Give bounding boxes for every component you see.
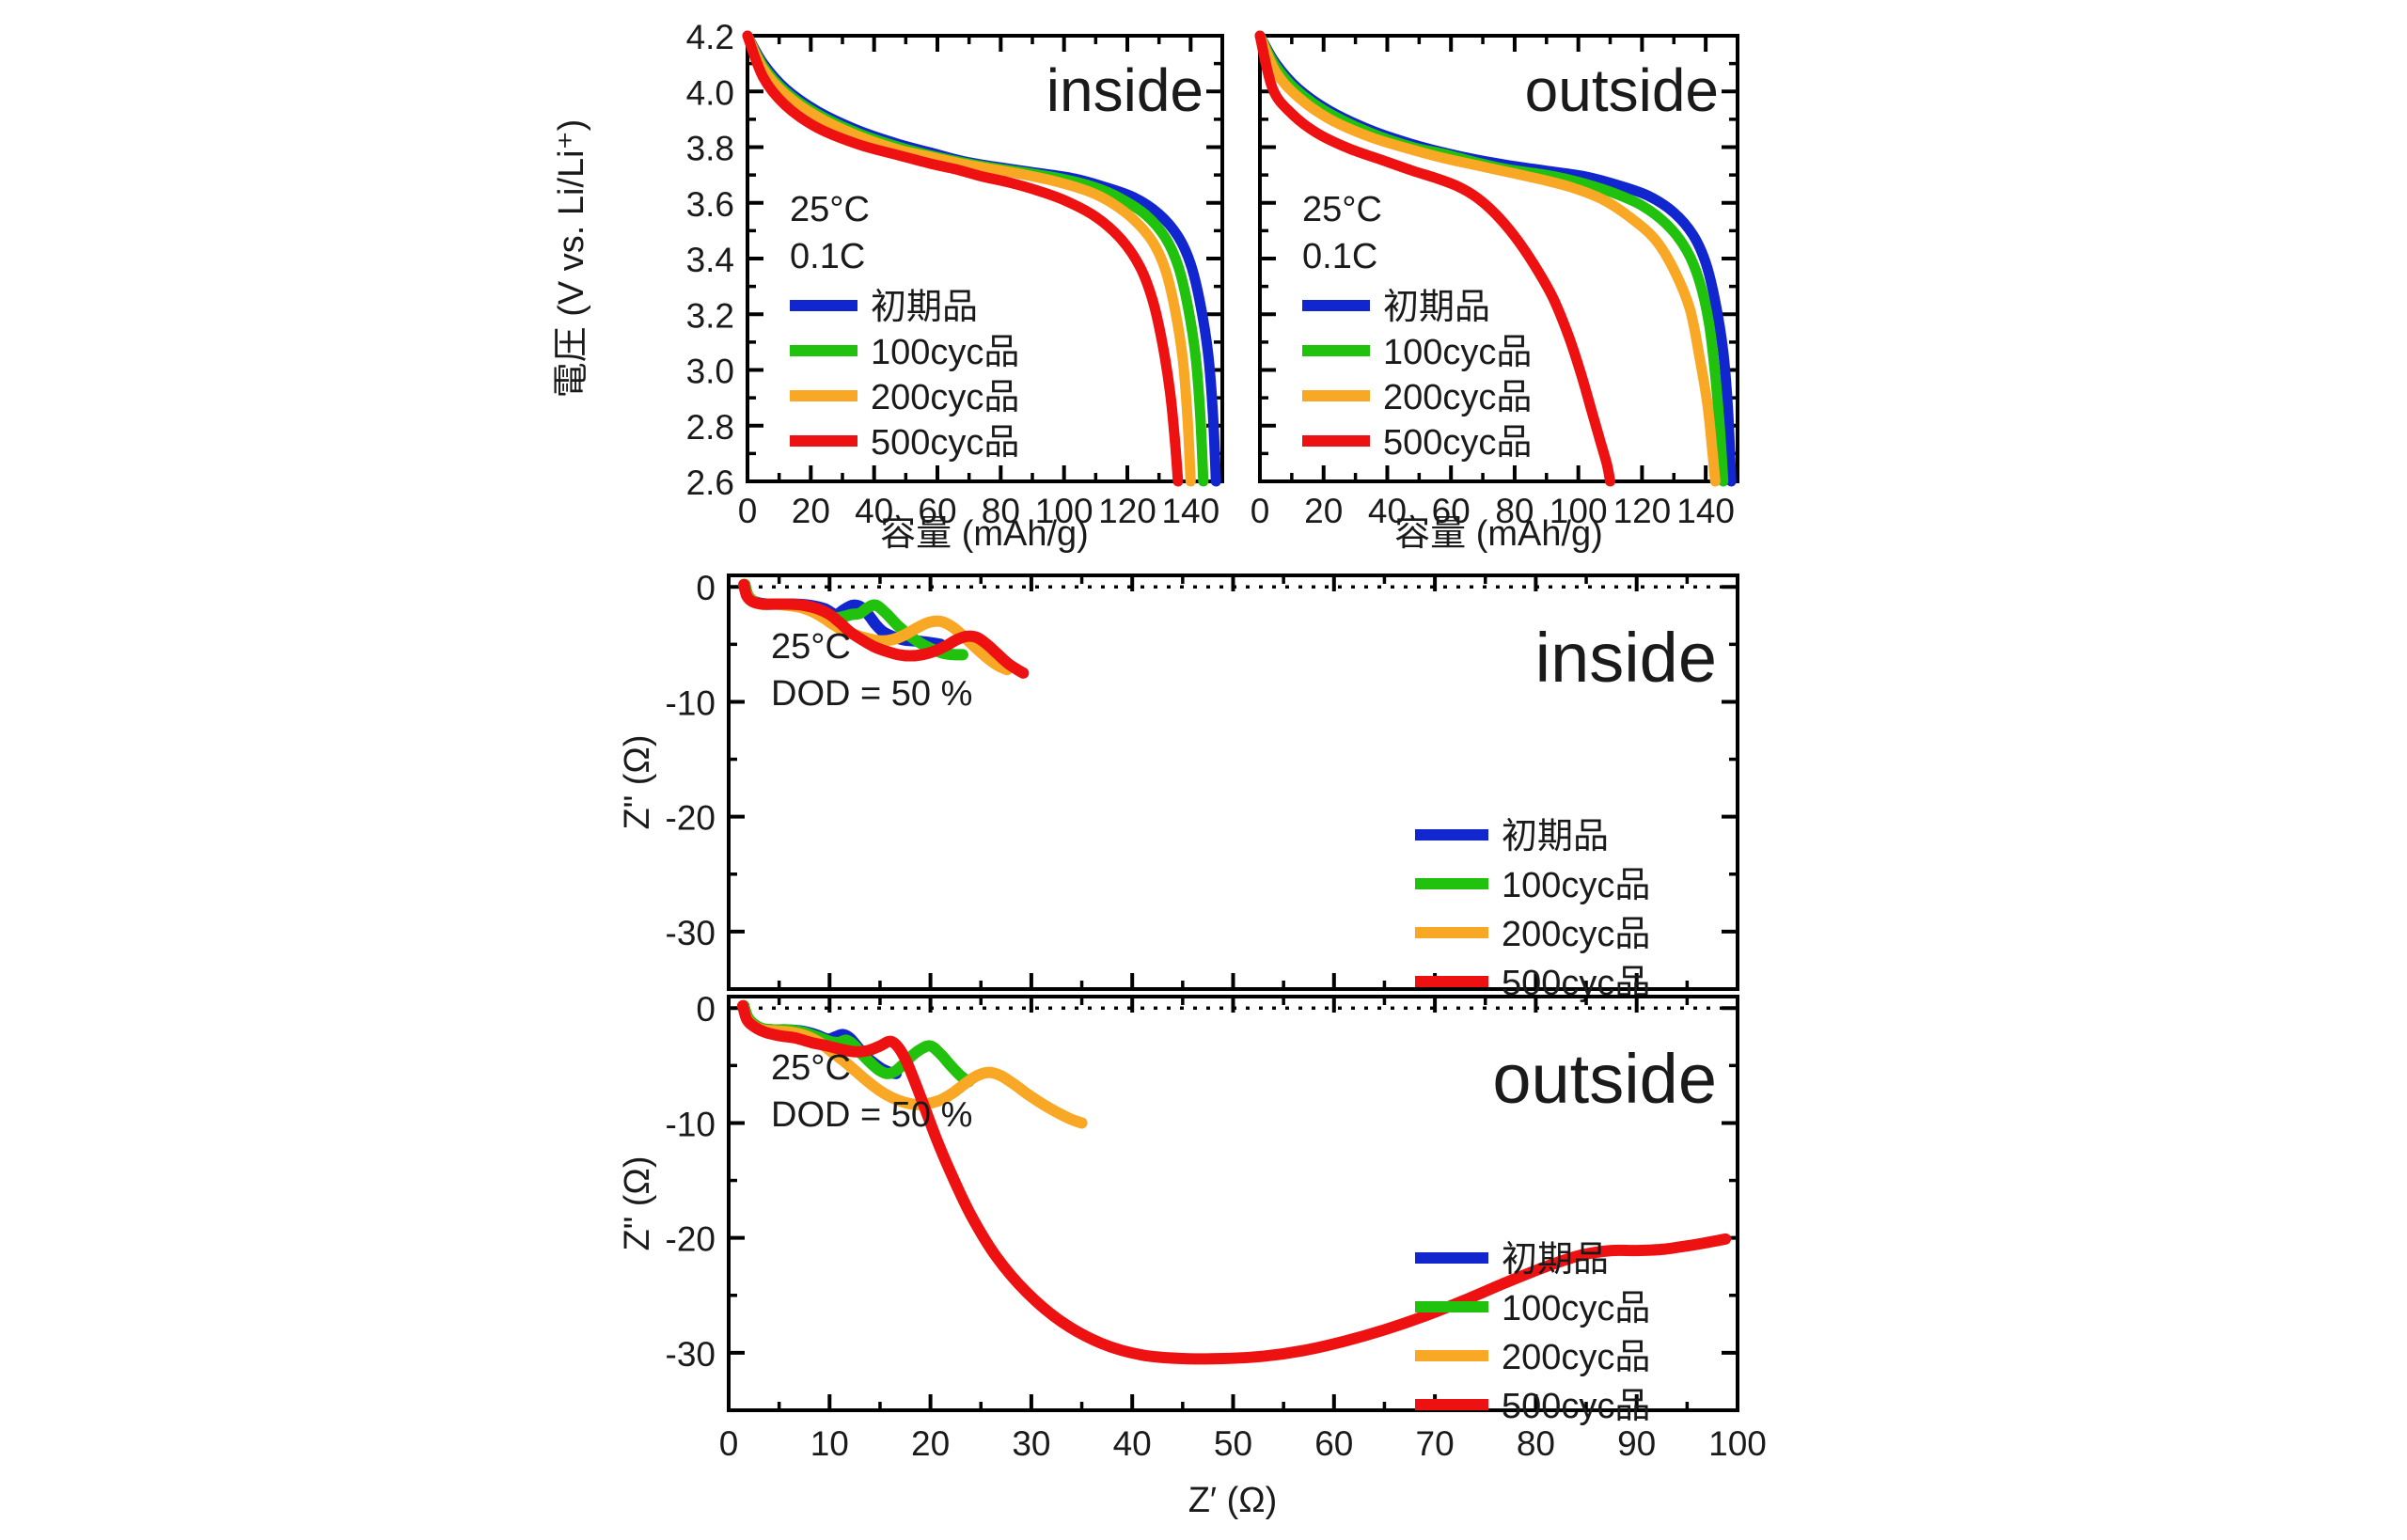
tick-label: 3.2 xyxy=(686,296,734,335)
tick-label: 0 xyxy=(1251,492,1270,530)
annotation-temperature-discharge-outside: 25°C xyxy=(1302,190,1382,229)
panel-title-discharge-inside: inside xyxy=(1046,56,1203,124)
tick-label: 3.0 xyxy=(686,353,734,391)
y-tick-labels-discharge-inside: 2.62.83.03.23.43.63.84.04.2 xyxy=(686,18,734,502)
legend-label-200cyc品: 200cyc品 xyxy=(1502,1338,1650,1377)
figure-root: 2.62.83.03.23.43.63.84.04.2 020406080100… xyxy=(0,0,2407,1540)
legend-label-500cyc品: 500cyc品 xyxy=(871,423,1019,463)
tick-label: 0 xyxy=(719,1424,739,1463)
figure-background xyxy=(0,0,2407,1540)
legend-label-200cyc品: 200cyc品 xyxy=(1502,915,1650,954)
tick-label: -10 xyxy=(666,684,716,722)
x-axis-label-eis-outside: Z′ (Ω) xyxy=(1188,1481,1278,1520)
y-axis-label-discharge-inside: 電圧 (V vs. Li/Li⁺) xyxy=(552,119,591,399)
tick-label: 3.6 xyxy=(686,185,734,224)
annotation-rate-discharge-outside: 0.1C xyxy=(1302,237,1377,276)
annotation-temperature-discharge-inside: 25°C xyxy=(790,190,870,229)
legend-label-500cyc品: 500cyc品 xyxy=(1383,423,1532,463)
legend-label-200cyc品: 200cyc品 xyxy=(1383,378,1532,417)
legend-label-200cyc品: 200cyc品 xyxy=(871,378,1019,417)
tick-label: 140 xyxy=(1676,492,1735,530)
panel-title-eis-outside: outside xyxy=(1492,1040,1717,1118)
tick-label: -20 xyxy=(666,799,716,838)
tick-label: 20 xyxy=(1304,492,1343,530)
legend-label-初期品: 初期品 xyxy=(1502,1240,1609,1280)
tick-label: 0 xyxy=(696,569,716,607)
annotation-temperature-eis-inside: 25°C xyxy=(771,627,851,667)
panel-title-eis-inside: inside xyxy=(1535,619,1717,697)
tick-label: -30 xyxy=(666,914,716,952)
tick-label: 4.2 xyxy=(686,18,734,56)
tick-label: 20 xyxy=(792,492,830,530)
annotation-dod-eis-outside: DOD = 50 % xyxy=(771,1095,972,1135)
legend-label-初期品: 初期品 xyxy=(1502,817,1609,856)
annotation-rate-discharge-inside: 0.1C xyxy=(790,237,865,276)
tick-label: 50 xyxy=(1214,1424,1252,1463)
tick-label: 80 xyxy=(1517,1424,1555,1463)
tick-label: 120 xyxy=(1098,492,1156,530)
tick-label: 30 xyxy=(1012,1424,1050,1463)
legend-label-初期品: 初期品 xyxy=(871,288,978,327)
tick-label: 3.8 xyxy=(686,130,734,168)
x-axis-label-discharge-inside: 容量 (mAh/g) xyxy=(880,514,1089,554)
tick-label: 2.6 xyxy=(686,464,734,502)
tick-label: -20 xyxy=(666,1220,716,1259)
y-axis-label-eis-inside: Z" (Ω) xyxy=(618,735,657,830)
tick-label: 120 xyxy=(1613,492,1672,530)
tick-label: 140 xyxy=(1161,492,1219,530)
tick-label: 3.4 xyxy=(686,241,734,279)
tick-label: 2.8 xyxy=(686,408,734,447)
tick-label: 40 xyxy=(1113,1424,1152,1463)
legend-label-100cyc品: 100cyc品 xyxy=(1502,866,1650,905)
tick-label: 90 xyxy=(1617,1424,1656,1463)
legend-label-初期品: 初期品 xyxy=(1383,288,1490,327)
tick-label: -30 xyxy=(666,1335,716,1374)
tick-label: 100 xyxy=(1708,1424,1767,1463)
tick-label: 60 xyxy=(1314,1424,1353,1463)
x-axis-label-discharge-outside: 容量 (mAh/g) xyxy=(1394,514,1603,554)
annotation-dod-eis-inside: DOD = 50 % xyxy=(771,674,972,714)
y-axis-label-eis-outside: Z" (Ω) xyxy=(618,1156,657,1251)
annotation-temperature-eis-outside: 25°C xyxy=(771,1048,851,1088)
legend-label-100cyc品: 100cyc品 xyxy=(1383,333,1532,372)
figure-canvas: 2.62.83.03.23.43.63.84.04.2 020406080100… xyxy=(0,0,2407,1540)
legend-label-100cyc品: 100cyc品 xyxy=(871,333,1019,372)
tick-label: 0 xyxy=(696,990,716,1029)
tick-label: 10 xyxy=(810,1424,849,1463)
tick-label: 0 xyxy=(738,492,758,530)
legend-label-500cyc品: 500cyc品 xyxy=(1502,1387,1650,1426)
legend-label-100cyc品: 100cyc品 xyxy=(1502,1289,1650,1328)
tick-label: 70 xyxy=(1416,1424,1455,1463)
tick-label: 20 xyxy=(911,1424,950,1463)
tick-label: 4.0 xyxy=(686,73,734,112)
panel-title-discharge-outside: outside xyxy=(1525,56,1719,124)
tick-label: -10 xyxy=(666,1105,716,1143)
